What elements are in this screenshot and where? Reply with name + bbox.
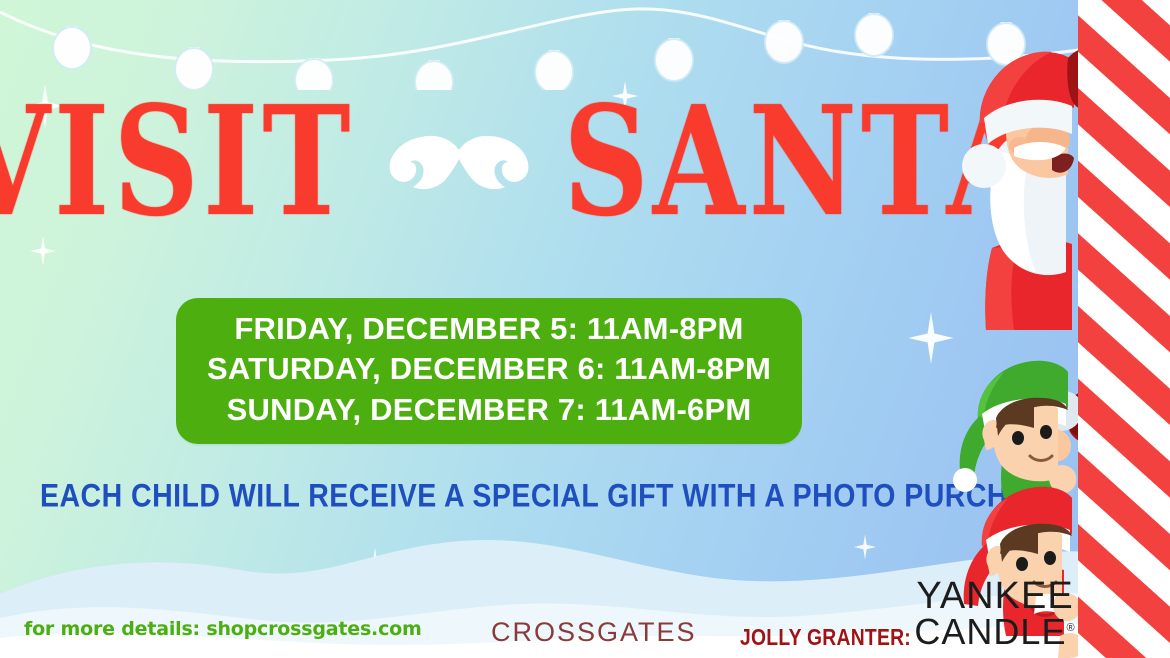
promo-poster: VISIT SANTA FRIDAY, DECEMBER 5: 11AM-8PM… — [0, 0, 1170, 658]
details-url[interactable]: for more details: shopcrossgates.com — [24, 618, 422, 640]
headline-word-visit: VISIT — [0, 87, 354, 238]
date-line: FRIDAY, DECEMBER 5: 11AM-8PM — [234, 309, 743, 349]
candy-cane-pole-icon — [1078, 0, 1170, 658]
dates-banner: FRIDAY, DECEMBER 5: 11AM-8PM SATURDAY, D… — [176, 298, 802, 444]
registered-trademark-icon: ® — [1066, 622, 1075, 634]
date-line: SATURDAY, DECEMBER 6: 11AM-8PM — [207, 349, 771, 389]
yankee-candle-line1: YANKEE — [905, 578, 1085, 614]
yankee-candle-line2: CANDLE® — [905, 614, 1085, 650]
elf-green-icon — [953, 361, 1076, 498]
date-line: SUNDAY, DECEMBER 7: 11AM-6PM — [227, 390, 752, 430]
sponsor-label: JOLLY GRANTER: — [740, 624, 911, 651]
yankee-candle-line2-text: CANDLE — [914, 611, 1066, 652]
crossgates-logo: CROSSGATES — [491, 617, 697, 648]
characters-group — [940, 0, 1170, 658]
moustache-icon — [384, 132, 534, 198]
yankee-candle-logo: YANKEE CANDLE® — [905, 578, 1085, 650]
headline: VISIT SANTA — [0, 104, 1000, 220]
